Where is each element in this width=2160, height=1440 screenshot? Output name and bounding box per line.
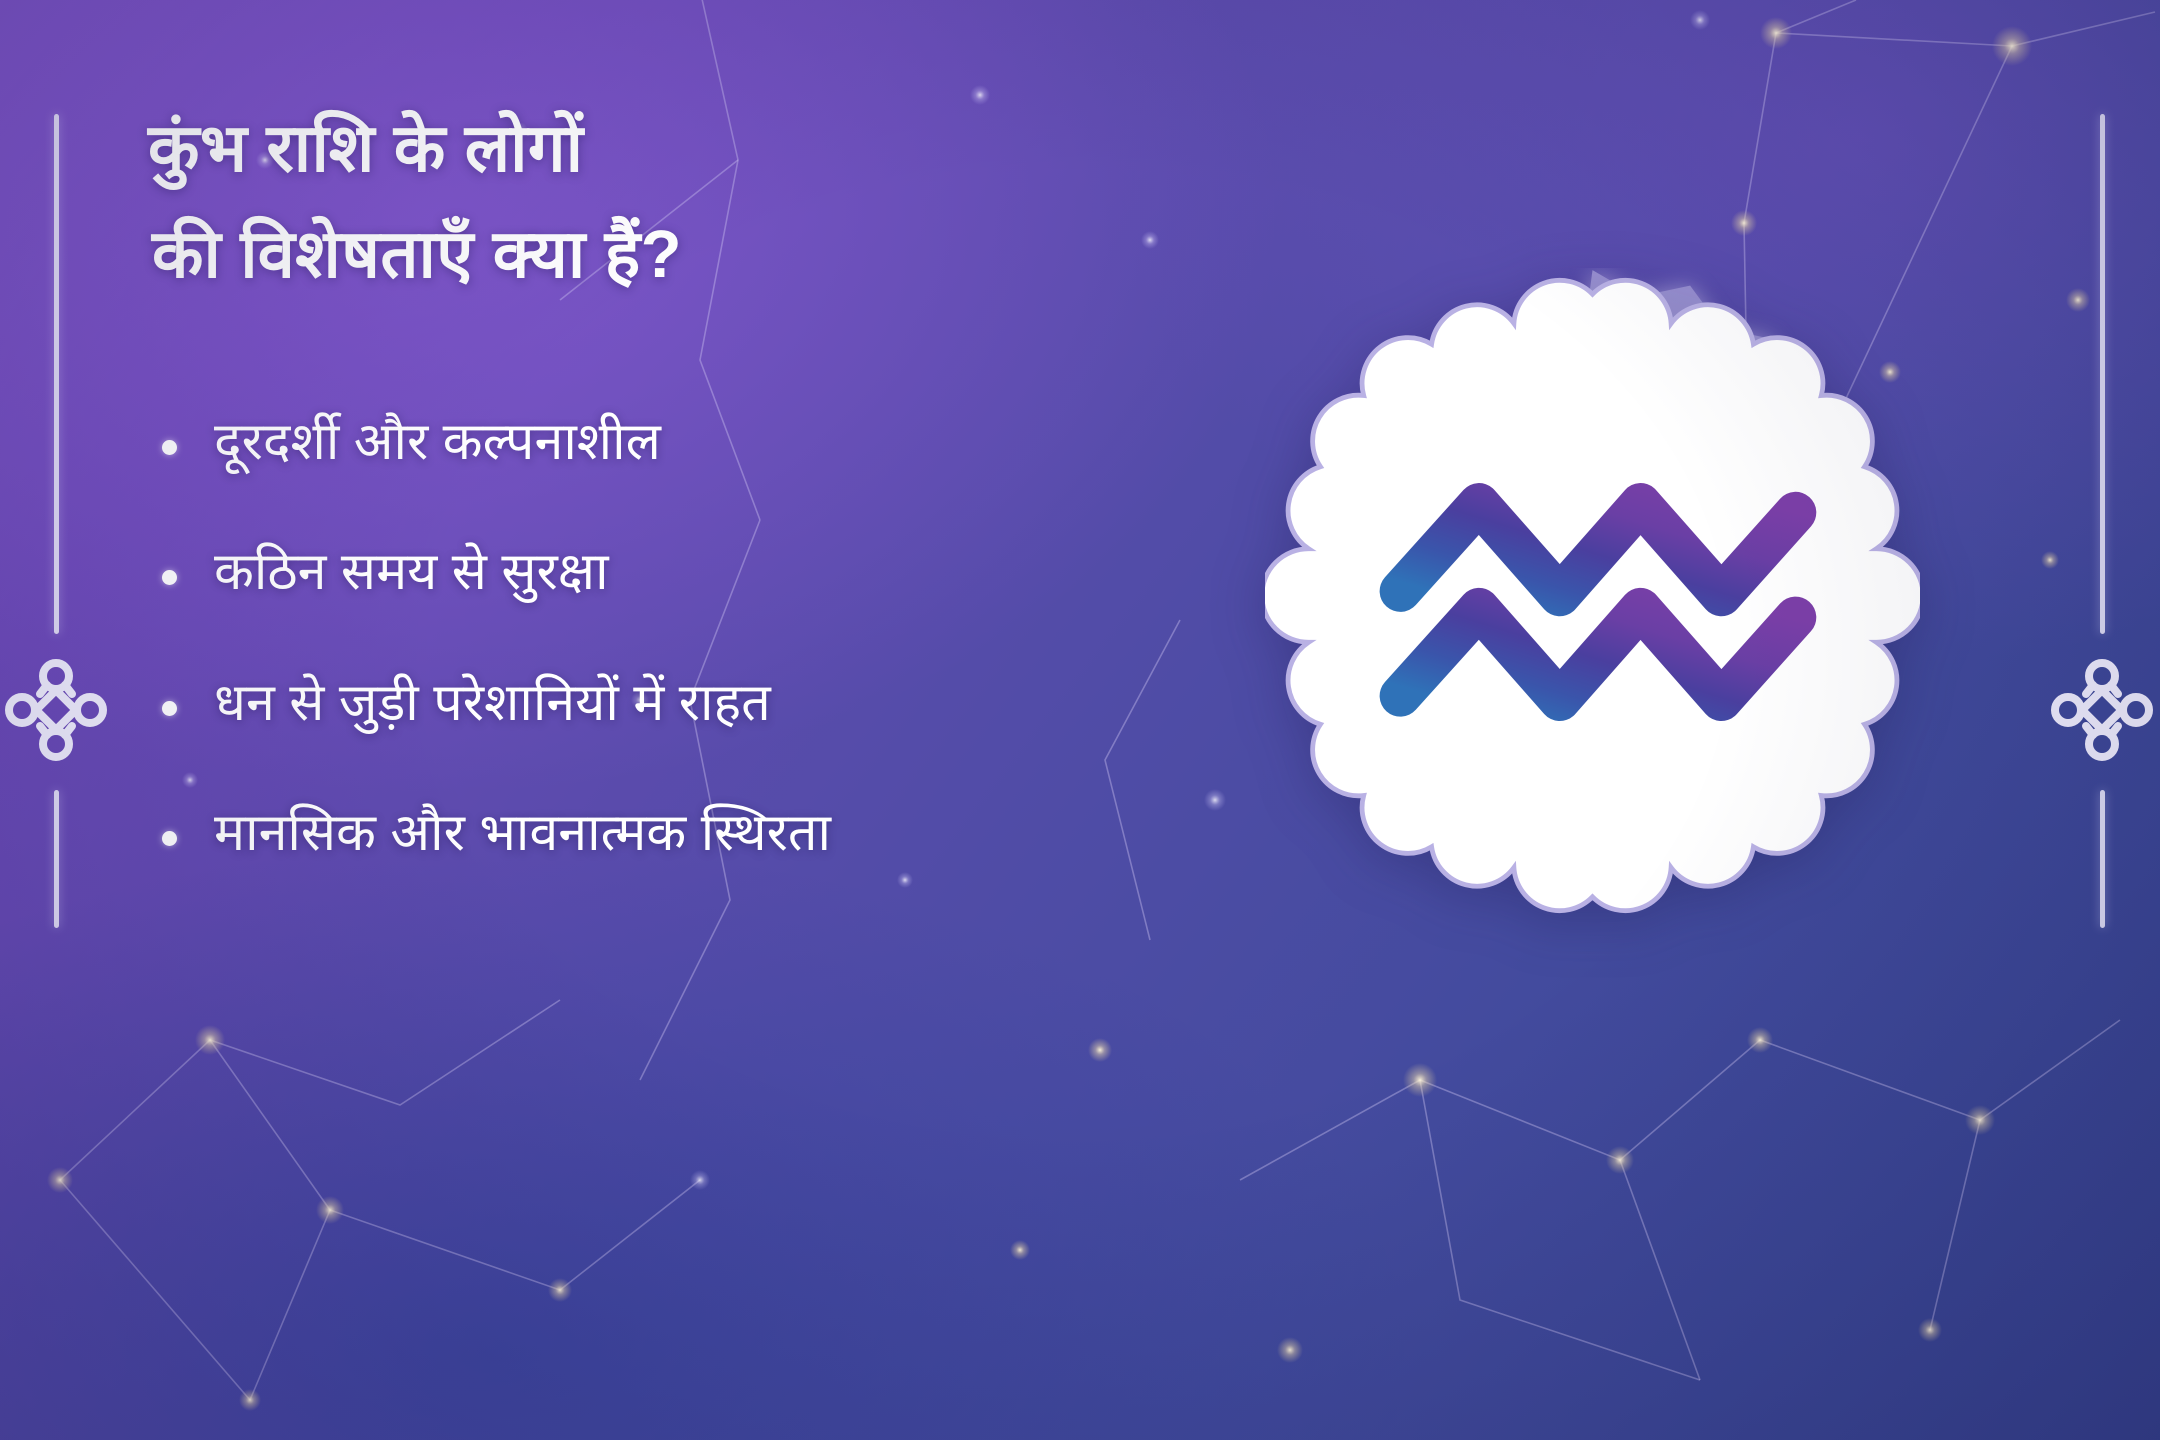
poster-canvas: कुंभ राशि के लोगों की विशेषताएँ क्या हैं… [0, 0, 2160, 1440]
vignette-overlay [0, 0, 2160, 1440]
